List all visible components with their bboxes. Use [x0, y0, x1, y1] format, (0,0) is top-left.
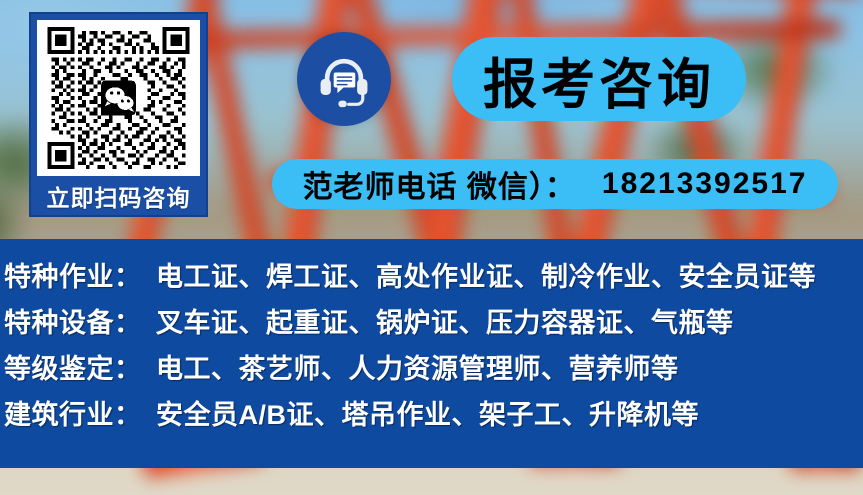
promo-poster: 立即扫码咨询 报考咨询 范老师电话 微信）： 1821339 [0, 0, 863, 495]
info-row-value: 安全员A/B证、塔吊作业、架子工、升降机等 [156, 393, 699, 432]
qr-code-icon[interactable] [44, 27, 193, 169]
phone-label: 范老师电话 微信）： [303, 162, 576, 206]
info-row: 特种设备： 叉车证、起重证、锅炉证、压力容器证、气瓶等 [4, 301, 863, 347]
headset-support-icon [314, 49, 374, 109]
qr-code-card[interactable]: 立即扫码咨询 [29, 12, 208, 217]
info-row: 建筑行业： 安全员A/B证、塔吊作业、架子工、升降机等 [4, 393, 863, 439]
certificate-category-panel: 特种作业： 电工证、焊工证、高处作业证、制冷作业、安全员证等 特种设备： 叉车证… [0, 239, 863, 468]
headset-badge[interactable] [297, 32, 391, 126]
info-row-label: 等级鉴定： [4, 347, 156, 386]
info-row-value: 叉车证、起重证、锅炉证、压力容器证、气瓶等 [156, 301, 734, 340]
qr-code-surface[interactable] [37, 20, 200, 176]
phone-pill[interactable]: 范老师电话 微信）： 18213392517 [272, 159, 838, 209]
info-row-value: 电工、茶艺师、人力资源管理师、营养师等 [156, 347, 679, 386]
title-pill[interactable]: 报考咨询 [452, 37, 746, 121]
title-pill-label: 报考咨询 [483, 40, 715, 119]
qr-caption: 立即扫码咨询 [37, 176, 200, 220]
info-row: 特种作业： 电工证、焊工证、高处作业证、制冷作业、安全员证等 [4, 255, 863, 301]
info-row-label: 建筑行业： [4, 393, 156, 432]
info-row: 等级鉴定： 电工、茶艺师、人力资源管理师、营养师等 [4, 347, 863, 393]
info-row-label: 特种作业： [4, 255, 156, 294]
phone-number: 18213392517 [602, 167, 808, 201]
info-row-value: 电工证、焊工证、高处作业证、制冷作业、安全员证等 [156, 255, 816, 294]
info-row-label: 特种设备： [4, 301, 156, 340]
